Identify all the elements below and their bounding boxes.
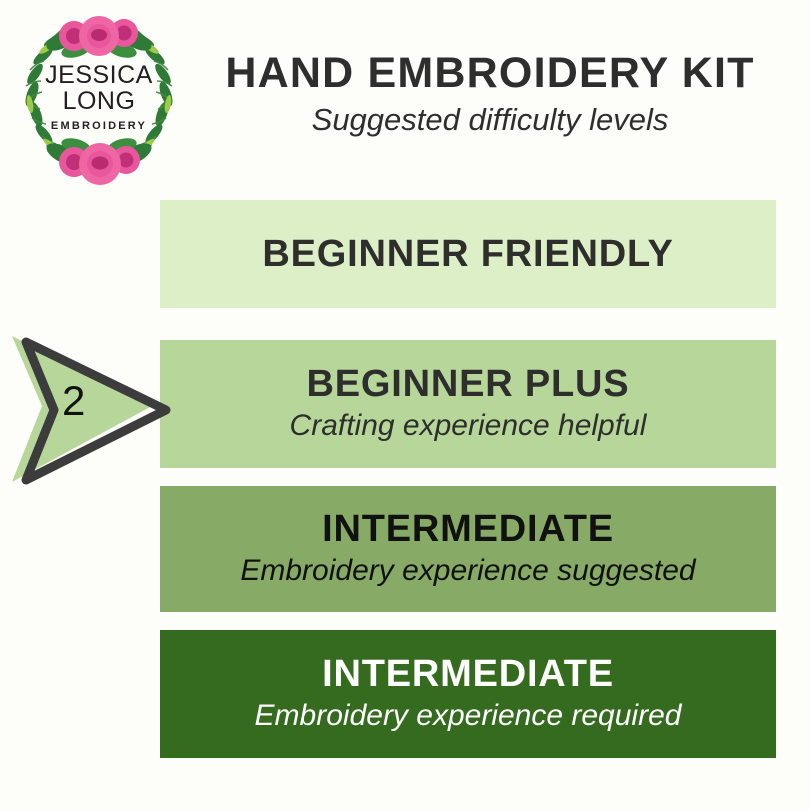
bottom-flower-cluster — [43, 135, 155, 185]
page-title: HAND EMBROIDERY KIT — [190, 48, 790, 98]
level-title: INTERMEDIATE — [322, 507, 614, 551]
level-title: INTERMEDIATE — [322, 652, 614, 696]
floral-wreath-icon — [14, 8, 184, 190]
difficulty-level-list: BEGINNER FRIENDLY BEGINNER PLUS Crafting… — [160, 200, 776, 758]
difficulty-level-row[interactable]: INTERMEDIATE Embroidery experience sugge… — [160, 486, 776, 612]
difficulty-level-row[interactable]: BEGINNER FRIENDLY — [160, 200, 776, 308]
top-flower-cluster — [43, 16, 155, 61]
difficulty-level-row[interactable]: BEGINNER PLUS Crafting experience helpfu… — [160, 340, 776, 468]
selected-level-marker — [4, 330, 174, 490]
level-subtitle: Embroidery experience required — [255, 696, 682, 736]
difficulty-level-row[interactable]: INTERMEDIATE Embroidery experience requi… — [160, 630, 776, 758]
level-title: BEGINNER PLUS — [307, 362, 630, 406]
header: HAND EMBROIDERY KIT Suggested difficulty… — [190, 48, 790, 142]
level-subtitle: Embroidery experience suggested — [240, 551, 695, 591]
infographic-page: JESSICA LONG EMBROIDERY HAND EMBROIDERY … — [0, 0, 810, 810]
level-subtitle: Crafting experience helpful — [290, 406, 647, 446]
level-title: BEGINNER FRIENDLY — [262, 232, 673, 276]
marker-number: 2 — [62, 378, 85, 424]
arrow-marker-icon — [4, 330, 174, 490]
page-subtitle: Suggested difficulty levels — [190, 98, 790, 142]
brand-logo: JESSICA LONG EMBROIDERY — [14, 8, 184, 190]
